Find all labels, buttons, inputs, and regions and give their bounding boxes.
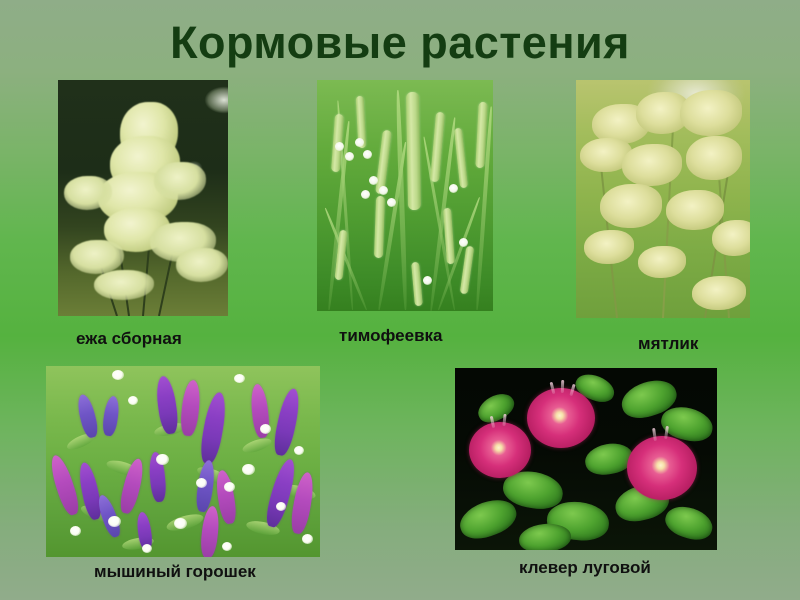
caption-vicia: мышиный горошек [94, 562, 256, 582]
timothy-photo-scene [317, 80, 493, 311]
plant-image-clover [455, 368, 717, 550]
plant-image-poa [576, 80, 750, 318]
bluegrass-photo-scene [576, 80, 750, 318]
caption-phleum: тимофеевка [339, 326, 443, 346]
plant-image-phleum [317, 80, 493, 311]
caption-poa: мятлик [638, 334, 698, 354]
page-title: Кормовые растения [0, 18, 800, 68]
plant-image-vicia [46, 366, 320, 557]
caption-clover: клевер луговой [519, 558, 651, 578]
caption-dactylis: ежа сборная [76, 329, 182, 349]
plant-image-dactylis [58, 80, 228, 316]
presentation-slide: Кормовые растения ежа сборная [0, 0, 800, 600]
cocksfoot-photo-scene [58, 80, 228, 316]
clover-photo-scene [455, 368, 717, 550]
vetch-photo-scene [46, 366, 320, 557]
